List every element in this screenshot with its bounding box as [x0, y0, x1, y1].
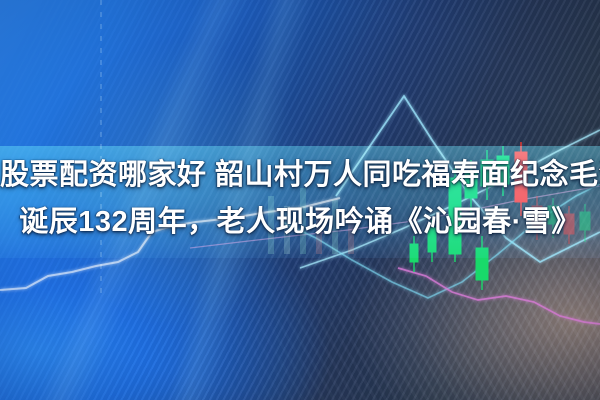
magenta-line	[398, 268, 600, 324]
headline-text: 股票配资哪家好 韶山村万人同吃福寿面纪念毛泽东 诞辰132周年，老人现场吟诵《沁…	[0, 152, 600, 246]
news-banner-image: 股票配资哪家好 韶山村万人同吃福寿面纪念毛泽东 诞辰132周年，老人现场吟诵《沁…	[0, 0, 600, 400]
headline-line-2: 诞辰132周年，老人现场吟诵《沁园春·雪》	[0, 199, 600, 246]
headline-line-1: 股票配资哪家好 韶山村万人同吃福寿面纪念毛泽东	[0, 152, 600, 199]
